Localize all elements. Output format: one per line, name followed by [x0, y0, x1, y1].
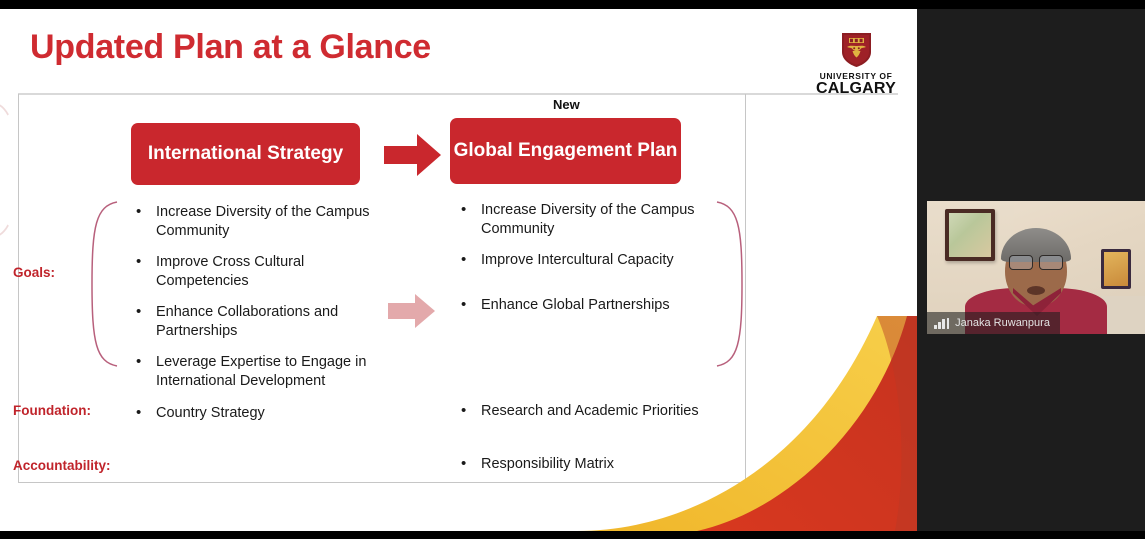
decorative-corner-swoosh — [577, 316, 917, 531]
decorative-arc — [0, 103, 20, 237]
list-item: Improve Cross Cultural Competencies — [130, 253, 380, 290]
list-item: Increase Diversity of the Campus Communi… — [455, 201, 720, 238]
list-item: Improve Intercultural Capacity — [455, 251, 720, 270]
university-logo: UNIVERSITY OF CALGARY — [806, 32, 906, 100]
global-engagement-plan-box: Global Engagement Plan — [450, 118, 681, 184]
list-item: Leverage Expertise to Engage in Internat… — [130, 353, 380, 390]
right-arrow-icon — [384, 132, 442, 178]
row-label-goals: Goals: — [13, 265, 55, 280]
goals-list-right: Increase Diversity of the Campus Communi… — [455, 201, 720, 327]
participant-name: Janaka Ruwanpura — [955, 317, 1050, 329]
meeting-background-top — [0, 0, 1145, 9]
participant-name-bar: Janaka Ruwanpura — [927, 312, 1060, 334]
row-label-accountability: Accountability: — [13, 458, 111, 473]
right-arrow-icon — [388, 292, 436, 330]
participant-video-tile[interactable]: Janaka Ruwanpura — [927, 201, 1145, 334]
meeting-background-bottom — [0, 531, 1145, 539]
international-strategy-box: International Strategy — [131, 123, 360, 185]
audio-level-bars-icon — [934, 318, 949, 329]
list-item: Enhance Collaborations and Partnerships — [130, 303, 380, 340]
presentation-slide: Updated Plan at a Glance UNIVERSITY OF C… — [0, 8, 917, 531]
page-title: Updated Plan at a Glance — [30, 28, 431, 67]
screen-share-stage: Updated Plan at a Glance UNIVERSITY OF C… — [0, 0, 1145, 539]
logo-line-2: CALGARY — [816, 81, 896, 97]
list-item: Increase Diversity of the Campus Communi… — [130, 203, 380, 240]
new-label: New — [553, 97, 580, 112]
foundation-item-left: Country Strategy — [130, 405, 396, 421]
university-of-calgary-shield-icon — [841, 32, 872, 68]
list-item: Enhance Global Partnerships — [455, 296, 720, 315]
row-label-foundation: Foundation: — [13, 403, 91, 418]
goals-list-left: Increase Diversity of the Campus Communi… — [130, 203, 380, 403]
left-brace — [88, 200, 118, 368]
furniture — [1101, 296, 1145, 334]
